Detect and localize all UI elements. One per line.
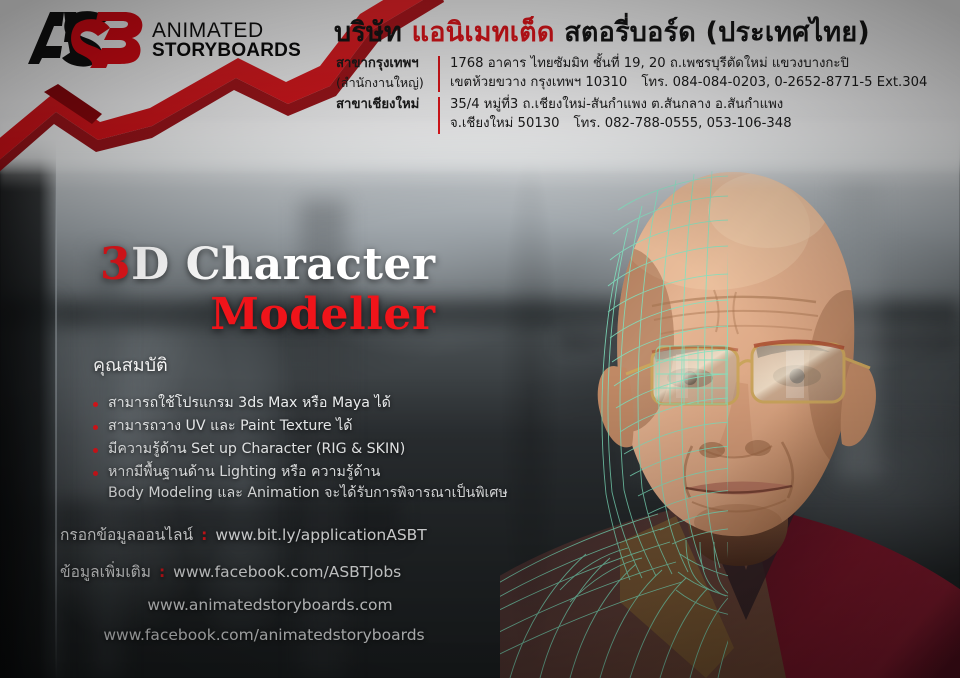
- qualification-item: สามารถวาง UV และ Paint Texture ได้: [93, 416, 523, 436]
- job-title-line-2: Modeller: [100, 293, 436, 337]
- qualification-item: สามารถใช้โปรแกรม 3ds Max หรือ Maya ได้: [93, 393, 523, 413]
- contact-row-more-info: ข้อมูลเพิ่มเติม : www.facebook.com/ASBTJ…: [60, 559, 480, 584]
- company-name-pre: บริษัท: [334, 17, 412, 48]
- contact-link-facebook-jobs[interactable]: www.facebook.com/ASBTJobs: [173, 563, 401, 581]
- qualifications-heading: คุณสมบัติ: [93, 350, 523, 379]
- branch-phone: โทร. 084-084-0203, 0-2652-8771-5 Ext.304: [641, 75, 927, 90]
- qualification-text: สามารถใช้โปรแกรม 3ds Max หรือ Maya ได้: [108, 393, 391, 413]
- character-portrait: [500, 150, 960, 678]
- branch-label-chiangmai-main: สาขาเชียงใหม่: [336, 97, 419, 112]
- bullet-dot-icon: [93, 471, 98, 476]
- qualification-text: สามารถวาง UV และ Paint Texture ได้: [108, 416, 353, 436]
- logo-wordmark: ANIMATED STORYBOARDS: [152, 20, 301, 61]
- branch-divider: [438, 56, 440, 92]
- branch-address-line-1: 35/4 หมู่ที่3 ถ.เชียงใหม่-สันกำแพง ต.สัน…: [450, 96, 950, 115]
- header-bar: ANIMATED STORYBOARDS บริษัท แอนิเมทเต็ด …: [0, 0, 960, 175]
- address-block: สาขากรุงเทพฯ (สำนักงานใหญ่) 1768 อาคาร ไ…: [336, 55, 950, 138]
- logo-line-1: ANIMATED: [152, 20, 301, 41]
- contact-link-facebook-main[interactable]: www.facebook.com/animatedstoryboards: [60, 626, 480, 644]
- branch-row-chiangmai: สาขาเชียงใหม่ 35/4 หมู่ที่3 ถ.เชียงใหม่-…: [336, 96, 950, 133]
- contact-link-website[interactable]: www.animatedstoryboards.com: [60, 596, 480, 614]
- branch-label-chiangmai: สาขาเชียงใหม่: [336, 96, 438, 115]
- contact-link-apply[interactable]: www.bit.ly/applicationASBT: [215, 526, 426, 544]
- company-name-highlight: แอนิเมทเต็ด: [412, 17, 555, 48]
- contact-label-apply: กรอกข้อมูลออนไลน์: [60, 522, 193, 547]
- company-name: บริษัท แอนิเมทเต็ด สตอรี่บอร์ด (ประเทศไท…: [334, 10, 870, 53]
- contact-label-more-info: ข้อมูลเพิ่มเติม: [60, 559, 151, 584]
- branch-row-bangkok: สาขากรุงเทพฯ (สำนักงานใหญ่) 1768 อาคาร ไ…: [336, 55, 950, 92]
- contact-colon: :: [201, 526, 207, 544]
- branch-address-line-2: จ.เชียงใหม่ 50130โทร. 082-788-0555, 053-…: [450, 115, 950, 134]
- branch-address-line-1: 1768 อาคาร ไทยซัมมิท ชั้นที่ 19, 20 ถ.เพ…: [450, 55, 950, 74]
- job-title-line-1: 3D Character: [100, 243, 436, 287]
- job-title-number: 3: [100, 239, 131, 290]
- qualification-item: หากมีพื้นฐานด้าน Lighting หรือ ความรู้ด้…: [93, 462, 523, 502]
- branch-address-bangkok: 1768 อาคาร ไทยซัมมิท ชั้นที่ 19, 20 ถ.เพ…: [450, 55, 950, 92]
- qualification-text-line-1: หากมีพื้นฐานด้าน Lighting หรือ ความรู้ด้…: [108, 464, 380, 480]
- branch-address-line-2: เขตห้วยขวาง กรุงเทพฯ 10310โทร. 084-084-0…: [450, 74, 950, 93]
- contact-row-apply: กรอกข้อมูลออนไลน์ : www.bit.ly/applicati…: [60, 522, 480, 547]
- company-logo: ANIMATED STORYBOARDS: [24, 6, 314, 70]
- branch-label-bangkok: สาขากรุงเทพฯ (สำนักงานใหญ่): [336, 55, 438, 92]
- qualifications-section: คุณสมบัติ สามารถใช้โปรแกรม 3ds Max หรือ …: [93, 350, 523, 506]
- qualification-text: มีความรู้ด้าน Set up Character (RIG & SK…: [108, 439, 405, 459]
- branch-address-city: เขตห้วยขวาง กรุงเทพฯ 10310: [450, 75, 627, 90]
- left-edge-highlight: [55, 150, 57, 678]
- bullet-dot-icon: [93, 448, 98, 453]
- branch-address-city: จ.เชียงใหม่ 50130: [450, 116, 560, 131]
- branch-label-bangkok-sub: (สำนักงานใหญ่): [336, 74, 438, 92]
- bullet-dot-icon: [93, 402, 98, 407]
- branch-phone: โทร. 082-788-0555, 053-106-348: [574, 116, 792, 131]
- contact-colon: :: [159, 563, 165, 581]
- job-title-rest: D Character: [131, 239, 435, 290]
- branch-divider: [438, 97, 440, 133]
- poster-root: ANIMATED STORYBOARDS บริษัท แอนิเมทเต็ด …: [0, 0, 960, 678]
- branch-address-chiangmai: 35/4 หมู่ที่3 ถ.เชียงใหม่-สันกำแพง ต.สัน…: [450, 96, 950, 133]
- job-title: 3D Character Modeller: [100, 243, 436, 337]
- bullet-dot-icon: [93, 425, 98, 430]
- qualification-text-line-2: Body Modeling และ Animation จะได้รับการพ…: [108, 483, 508, 503]
- branch-label-bangkok-main: สาขากรุงเทพฯ: [336, 56, 419, 71]
- qualification-text: หากมีพื้นฐานด้าน Lighting หรือ ความรู้ด้…: [108, 462, 508, 502]
- company-name-post: สตอรี่บอร์ด (ประเทศไทย): [555, 17, 870, 48]
- logo-line-2: STORYBOARDS: [152, 41, 301, 60]
- qualification-item: มีความรู้ด้าน Set up Character (RIG & SK…: [93, 439, 523, 459]
- contact-links: กรอกข้อมูลออนไลน์ : www.bit.ly/applicati…: [60, 522, 480, 656]
- asb-monogram-icon: [24, 6, 148, 70]
